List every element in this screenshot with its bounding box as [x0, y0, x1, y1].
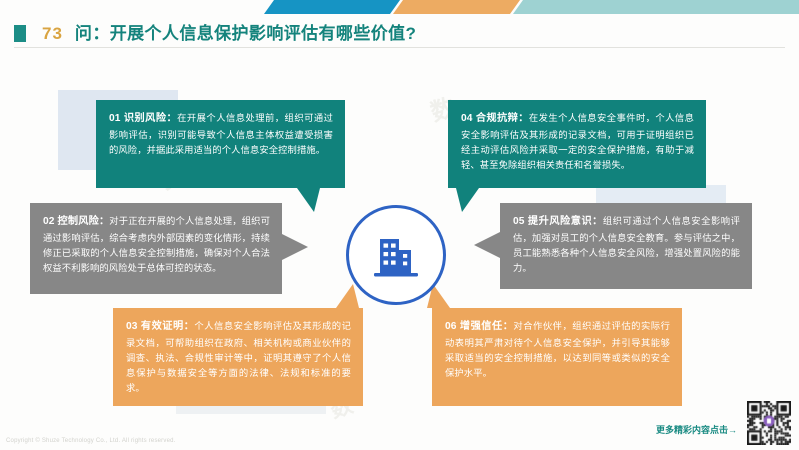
header-divider	[14, 47, 785, 48]
callout-box-02[interactable]: 02 控制风险：对于正在开展的个人信息处理，组织可通过影响评估，综合考虑内外部因…	[30, 203, 282, 294]
center-circle	[346, 205, 446, 305]
callout-04-lead: 04 合规抗辩：	[461, 113, 529, 124]
callout-05-lead: 05 提升风险意识：	[513, 216, 603, 227]
callout-06-lead: 06 增强信任：	[445, 321, 513, 332]
qr-code[interactable]	[747, 401, 791, 445]
callout-05-tail-icon	[474, 232, 500, 258]
question-number: 73	[42, 25, 63, 42]
callout-box-01[interactable]: 01 识别风险：在开展个人信息处理前，组织可通过影响评估，识别可能导致个人信息主…	[96, 100, 345, 188]
callout-04-tail-icon	[456, 188, 479, 212]
slide-canvas: 73 问：开展个人信息保护影响评估有哪些价值? 数 数 数 数 01 识别风险：…	[0, 0, 799, 450]
callout-03-lead: 03 有效证明：	[126, 321, 194, 332]
callout-box-03[interactable]: 03 有效证明：个人信息安全影响评估及其形成的记录文档，可帮助组织在政府、相关机…	[113, 308, 363, 406]
ribbon-segment-orange	[393, 0, 520, 14]
callout-box-06[interactable]: 06 增强信任：对合作伙伴，组织通过评估的实际行动表明其严肃对待个人信息安全保护…	[432, 308, 682, 406]
callout-02-tail-icon	[282, 234, 308, 260]
page-title: 问：开展个人信息保护影响评估有哪些价值?	[75, 25, 416, 42]
copyright-text: Copyright © Shuze Technology Co., Ltd. A…	[6, 438, 176, 444]
callout-01-lead: 01 识别风险：	[109, 113, 177, 124]
callout-03-tail-icon	[336, 284, 359, 308]
callout-02-lead: 02 控制风险：	[43, 216, 109, 227]
page-header: 73 问：开展个人信息保护影响评估有哪些价值?	[0, 18, 799, 48]
callout-box-04[interactable]: 04 合规抗辩：在发生个人信息安全事件时，个人信息安全影响评估及其形成的记录文档…	[448, 100, 706, 188]
more-content-link[interactable]: 更多精彩内容点击→	[656, 423, 737, 436]
callout-01-tail-icon	[297, 188, 320, 212]
office-building-icon	[370, 229, 422, 281]
callout-box-05[interactable]: 05 提升风险意识：组织可通过个人信息安全影响评估，加强对员工的个人信息安全教育…	[500, 203, 752, 289]
ribbon-segment-teal	[513, 0, 799, 14]
ribbon-segment-blue	[264, 0, 400, 14]
header-marker-icon	[14, 25, 26, 42]
